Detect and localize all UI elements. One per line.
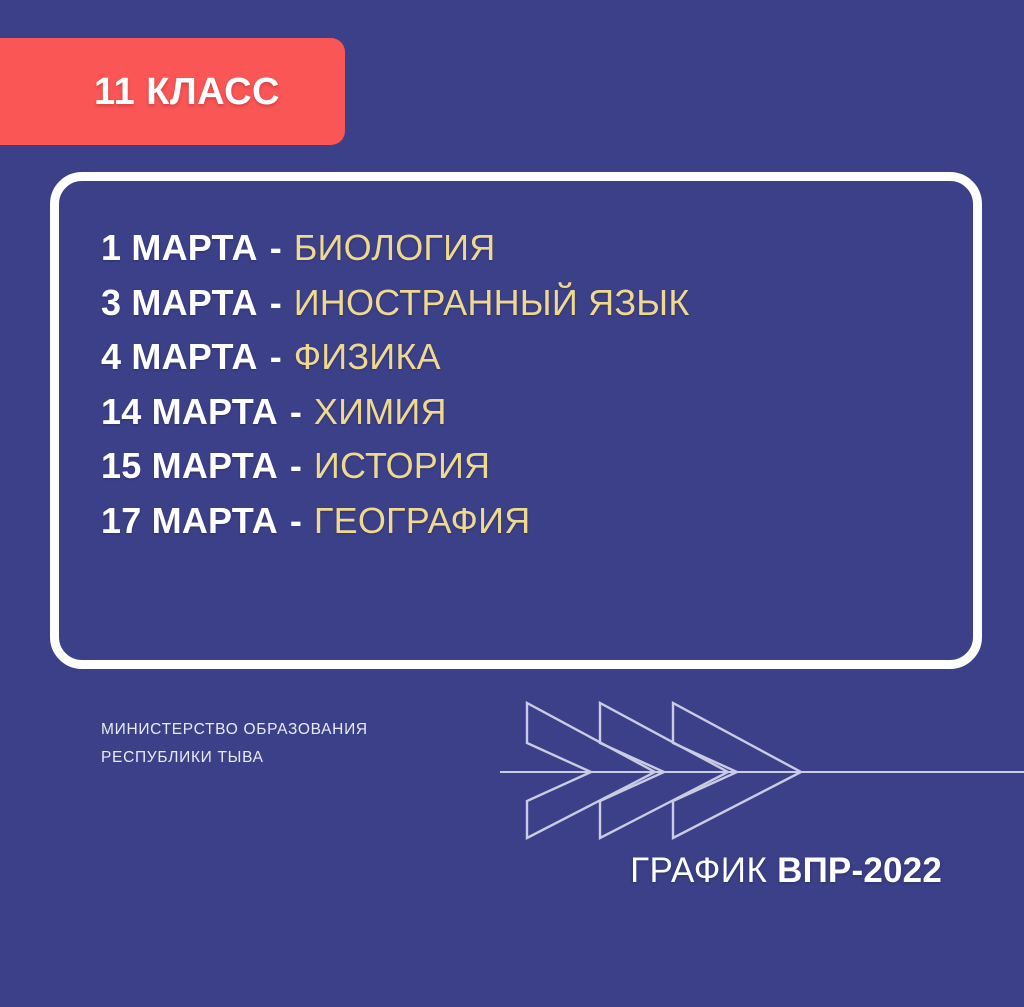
ministry-line-1: МИНИСТЕРСТВО ОБРАЗОВАНИЯ: [101, 716, 521, 744]
schedule-row-date: 4 МАРТА: [101, 336, 258, 377]
schedule-row-subject: ИСТОРИЯ: [314, 445, 490, 486]
ministry-line-2: РЕСПУБЛИКИ ТЫВА: [101, 744, 521, 772]
schedule-row-subject: ХИМИЯ: [314, 391, 447, 432]
schedule-row: 4 МАРТА - ФИЗИКА: [101, 330, 921, 385]
schedule-row-dash: -: [288, 391, 304, 432]
schedule-list: 1 МАРТА - БИОЛОГИЯ 3 МАРТА - ИНОСТРАННЫЙ…: [101, 221, 921, 548]
grade-badge-label: 11 КЛАСС: [94, 73, 280, 111]
schedule-row-subject: БИОЛОГИЯ: [294, 227, 496, 268]
schedule-row-date: 15 МАРТА: [101, 445, 278, 486]
schedule-row: 1 МАРТА - БИОЛОГИЯ: [101, 221, 921, 276]
schedule-row-date: 1 МАРТА: [101, 227, 258, 268]
schedule-row-dash: -: [268, 336, 284, 377]
triple-chevron-right-icon: [500, 690, 1024, 850]
schedule-row-subject: ИНОСТРАННЫЙ ЯЗЫК: [294, 282, 690, 323]
ministry-credit: МИНИСТЕРСТВО ОБРАЗОВАНИЯ РЕСПУБЛИКИ ТЫВА: [101, 716, 521, 772]
report-title: ГРАФИК ВПР-2022: [630, 853, 942, 888]
schedule-row-date: 14 МАРТА: [101, 391, 278, 432]
schedule-row-subject: ФИЗИКА: [294, 336, 441, 377]
poster-canvas: 11 КЛАСС 1 МАРТА - БИОЛОГИЯ 3 МАРТА - ИН…: [0, 0, 1024, 1007]
schedule-row-dash: -: [268, 227, 284, 268]
schedule-row-dash: -: [288, 500, 304, 541]
schedule-row: 14 МАРТА - ХИМИЯ: [101, 385, 921, 440]
schedule-row-subject: ГЕОГРАФИЯ: [314, 500, 530, 541]
report-title-light: ГРАФИК: [630, 851, 767, 890]
schedule-row-date: 3 МАРТА: [101, 282, 258, 323]
grade-badge: 11 КЛАСС: [0, 38, 345, 145]
report-title-bold: ВПР-2022: [777, 851, 942, 890]
schedule-row-dash: -: [268, 282, 284, 323]
schedule-row-date: 17 МАРТА: [101, 500, 278, 541]
schedule-row: 3 МАРТА - ИНОСТРАННЫЙ ЯЗЫК: [101, 276, 921, 331]
schedule-row: 15 МАРТА - ИСТОРИЯ: [101, 439, 921, 494]
schedule-row-dash: -: [288, 445, 304, 486]
schedule-row: 17 МАРТА - ГЕОГРАФИЯ: [101, 494, 921, 549]
